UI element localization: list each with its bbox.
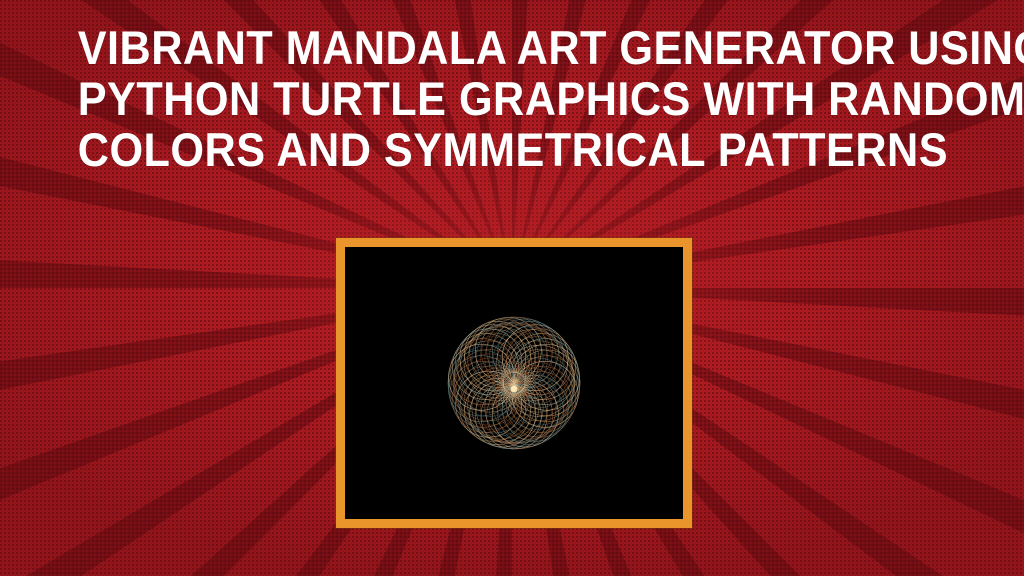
artwork-frame (336, 238, 692, 528)
banner-root: VIBRANT MANDALA ART GENERATOR USING PYTH… (0, 0, 1024, 576)
title-line-1: VIBRANT MANDALA ART GENERATOR USING (78, 22, 946, 73)
page-title: VIBRANT MANDALA ART GENERATOR USING PYTH… (0, 22, 1024, 175)
title-line-3: COLORS AND SYMMETRICAL PATTERNS (78, 124, 946, 175)
title-line-2: PYTHON TURTLE GRAPHICS WITH RANDOM (78, 73, 946, 124)
turtle-canvas (345, 247, 683, 519)
mandala-graphic (345, 247, 683, 519)
